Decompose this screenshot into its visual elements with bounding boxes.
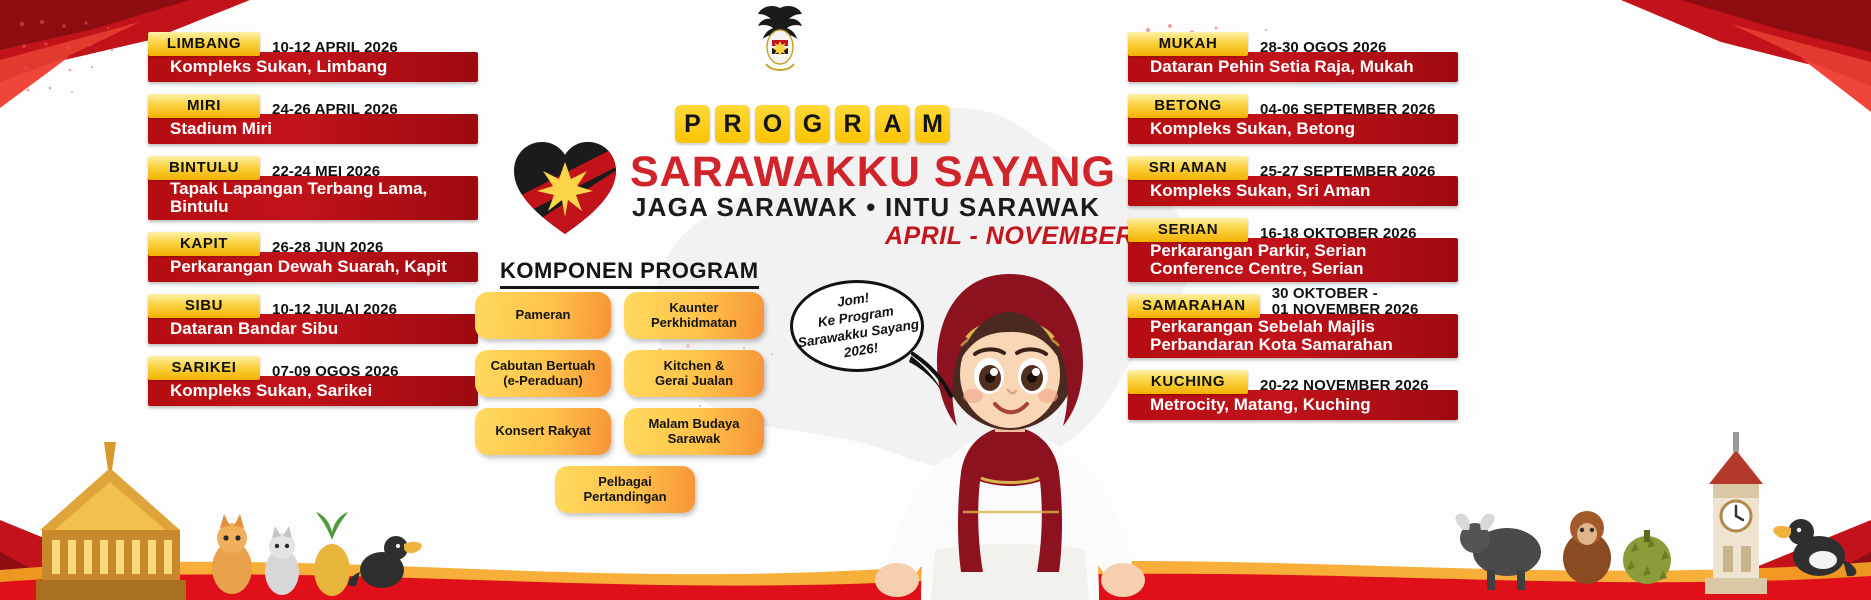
program-letter-tile: R (835, 105, 870, 143)
event-venue: Kompleks Sukan, Limbang (148, 52, 478, 82)
event-venue: Kompleks Sukan, Betong (1128, 114, 1458, 144)
schedule-entry-header: MIRI 24-26 APRIL 2026 (148, 92, 478, 118)
schedule-entry: MUKAH 28-30 OGOS 2026 Dataran Pehin Seti… (1128, 30, 1458, 82)
page-subtitle: JAGA SARAWAK • INTU SARAWAK (632, 192, 1100, 223)
program-letter-tile: O (755, 105, 790, 143)
city-chip: SARIKEI (148, 356, 260, 380)
schedule-entry: SARIKEI 07-09 OGOS 2026 Kompleks Sukan, … (148, 354, 478, 406)
schedule-entry-header: SIBU 10-12 JULAI 2026 (148, 292, 478, 318)
schedule-entry-header: SERIAN 16-18 OKTOBER 2026 (1128, 216, 1458, 242)
component-pill[interactable]: Malam Budaya Sarawak (624, 408, 764, 455)
component-pill[interactable]: Kaunter Perkhidmatan (624, 292, 764, 339)
event-venue: Stadium Miri (148, 114, 478, 144)
speech-bubble-text: Jom! Ke Program Sarawakku Sayang 2026! (791, 283, 922, 369)
speech-bubble: Jom! Ke Program Sarawakku Sayang 2026! (790, 280, 924, 372)
component-pill[interactable]: Konsert Rakyat (475, 408, 611, 455)
city-chip: MIRI (148, 94, 260, 118)
component-pill-row: Cabutan Bertuah (e-Peraduan) Kitchen & G… (475, 350, 795, 397)
schedule-entry: KAPIT 26-28 JUN 2026 Perkarangan Dewah S… (148, 230, 478, 282)
schedule-entry-header: SRI AMAN 25-27 SEPTEMBER 2026 (1128, 154, 1458, 180)
component-pill-row: Pameran Kaunter Perkhidmatan (475, 292, 795, 339)
event-date: 10-12 JULAI 2026 (260, 302, 397, 318)
event-date: 04-06 SEPTEMBER 2026 (1248, 102, 1435, 118)
program-letter-tile: A (875, 105, 910, 143)
event-venue: Perkarangan Dewah Suarah, Kapit (148, 252, 478, 282)
sarawak-heart-logo-icon (510, 138, 620, 238)
schedule-entry-header: BINTULU 22-24 MEI 2026 (148, 154, 478, 180)
event-date: 24-26 APRIL 2026 (260, 102, 398, 118)
schedule-entry-header: MUKAH 28-30 OGOS 2026 (1128, 30, 1458, 56)
event-venue: Kompleks Sukan, Sarikei (148, 376, 478, 406)
city-chip: SRI AMAN (1128, 156, 1248, 180)
schedule-column-left: LIMBANG 10-12 APRIL 2026 Kompleks Sukan,… (148, 30, 478, 416)
component-pill[interactable]: Kitchen & Gerai Jualan (624, 350, 764, 397)
corner-ribbon-top-right (1611, 0, 1871, 130)
city-chip: LIMBANG (148, 32, 260, 56)
city-chip: SIBU (148, 294, 260, 318)
komponen-heading: KOMPONEN PROGRAM (500, 258, 759, 289)
schedule-entry-header: SAMARAHAN 30 OKTOBER - 01 NOVEMBER 2026 (1128, 292, 1458, 318)
event-date: 20-22 NOVEMBER 2026 (1248, 378, 1429, 394)
event-date: 30 OKTOBER - 01 NOVEMBER 2026 (1260, 286, 1419, 318)
event-venue: Kompleks Sukan, Sri Aman (1128, 176, 1458, 206)
schedule-entry: KUCHING 20-22 NOVEMBER 2026 Metrocity, M… (1128, 368, 1458, 420)
event-date: 22-24 MEI 2026 (260, 164, 380, 180)
event-venue: Dataran Pehin Setia Raja, Mukah (1128, 52, 1458, 82)
schedule-column-right: MUKAH 28-30 OGOS 2026 Dataran Pehin Seti… (1128, 30, 1458, 430)
schedule-entry-header: LIMBANG 10-12 APRIL 2026 (148, 30, 478, 56)
program-letter-tile: G (795, 105, 830, 143)
landmark-silhouettes-right (1451, 410, 1871, 600)
component-pill[interactable]: Pelbagai Pertandingan (555, 466, 695, 513)
schedule-entry: SRI AMAN 25-27 SEPTEMBER 2026 Kompleks S… (1128, 154, 1458, 206)
event-date: 07-09 OGOS 2026 (260, 364, 399, 380)
component-pill-row: Konsert Rakyat Malam Budaya Sarawak (475, 408, 795, 455)
promotional-banner: LIMBANG 10-12 APRIL 2026 Kompleks Sukan,… (0, 0, 1871, 600)
component-pill[interactable]: Pameran (475, 292, 611, 339)
program-letter-tile: P (675, 105, 710, 143)
schedule-entry: LIMBANG 10-12 APRIL 2026 Kompleks Sukan,… (148, 30, 478, 82)
schedule-entry: MIRI 24-26 APRIL 2026 Stadium Miri (148, 92, 478, 144)
event-venue: Tapak Lapangan Terbang Lama, Bintulu (148, 176, 478, 220)
city-chip: BETONG (1128, 94, 1248, 118)
schedule-entry: SAMARAHAN 30 OKTOBER - 01 NOVEMBER 2026 … (1128, 292, 1458, 358)
city-chip: SERIAN (1128, 218, 1248, 242)
halftone-dots-left (12, 14, 142, 104)
component-pill[interactable]: Cabutan Bertuah (e-Peraduan) (475, 350, 611, 397)
schedule-entry-header: BETONG 04-06 SEPTEMBER 2026 (1128, 92, 1458, 118)
program-letter-tile: R (715, 105, 750, 143)
event-date: 16-18 OKTOBER 2026 (1248, 226, 1417, 242)
speech-bubble-tail (905, 352, 965, 402)
schedule-entry-header: SARIKEI 07-09 OGOS 2026 (148, 354, 478, 380)
event-venue: Metrocity, Matang, Kuching (1128, 390, 1458, 420)
page-title: SARAWAKKU SAYANG (630, 148, 1116, 197)
schedule-entry-header: KUCHING 20-22 NOVEMBER 2026 (1128, 368, 1458, 394)
city-chip: KAPIT (148, 232, 260, 256)
schedule-entry: BETONG 04-06 SEPTEMBER 2026 Kompleks Suk… (1128, 92, 1458, 144)
city-chip: BINTULU (148, 156, 260, 180)
event-date: 25-27 SEPTEMBER 2026 (1248, 164, 1435, 180)
event-date: 10-12 APRIL 2026 (260, 40, 398, 56)
component-pill-row: Pelbagai Pertandingan (475, 466, 795, 513)
schedule-entry: SIBU 10-12 JULAI 2026 Dataran Bandar Sib… (148, 292, 478, 344)
event-venue: Dataran Bandar Sibu (148, 314, 478, 344)
event-venue: Perkarangan Sebelah Majlis Perbandaran K… (1128, 314, 1458, 358)
schedule-entry-header: KAPIT 26-28 JUN 2026 (148, 230, 478, 256)
program-letter-tile: M (915, 105, 950, 143)
schedule-entry: BINTULU 22-24 MEI 2026 Tapak Lapangan Te… (148, 154, 478, 220)
event-date: 28-30 OGOS 2026 (1248, 40, 1387, 56)
event-date: 26-28 JUN 2026 (260, 240, 383, 256)
landmark-silhouettes-left (0, 420, 430, 600)
program-wordmark: PROGRAM (675, 105, 950, 143)
city-chip: MUKAH (1128, 32, 1248, 56)
component-pill-list: Pameran Kaunter Perkhidmatan Cabutan Ber… (475, 292, 795, 524)
